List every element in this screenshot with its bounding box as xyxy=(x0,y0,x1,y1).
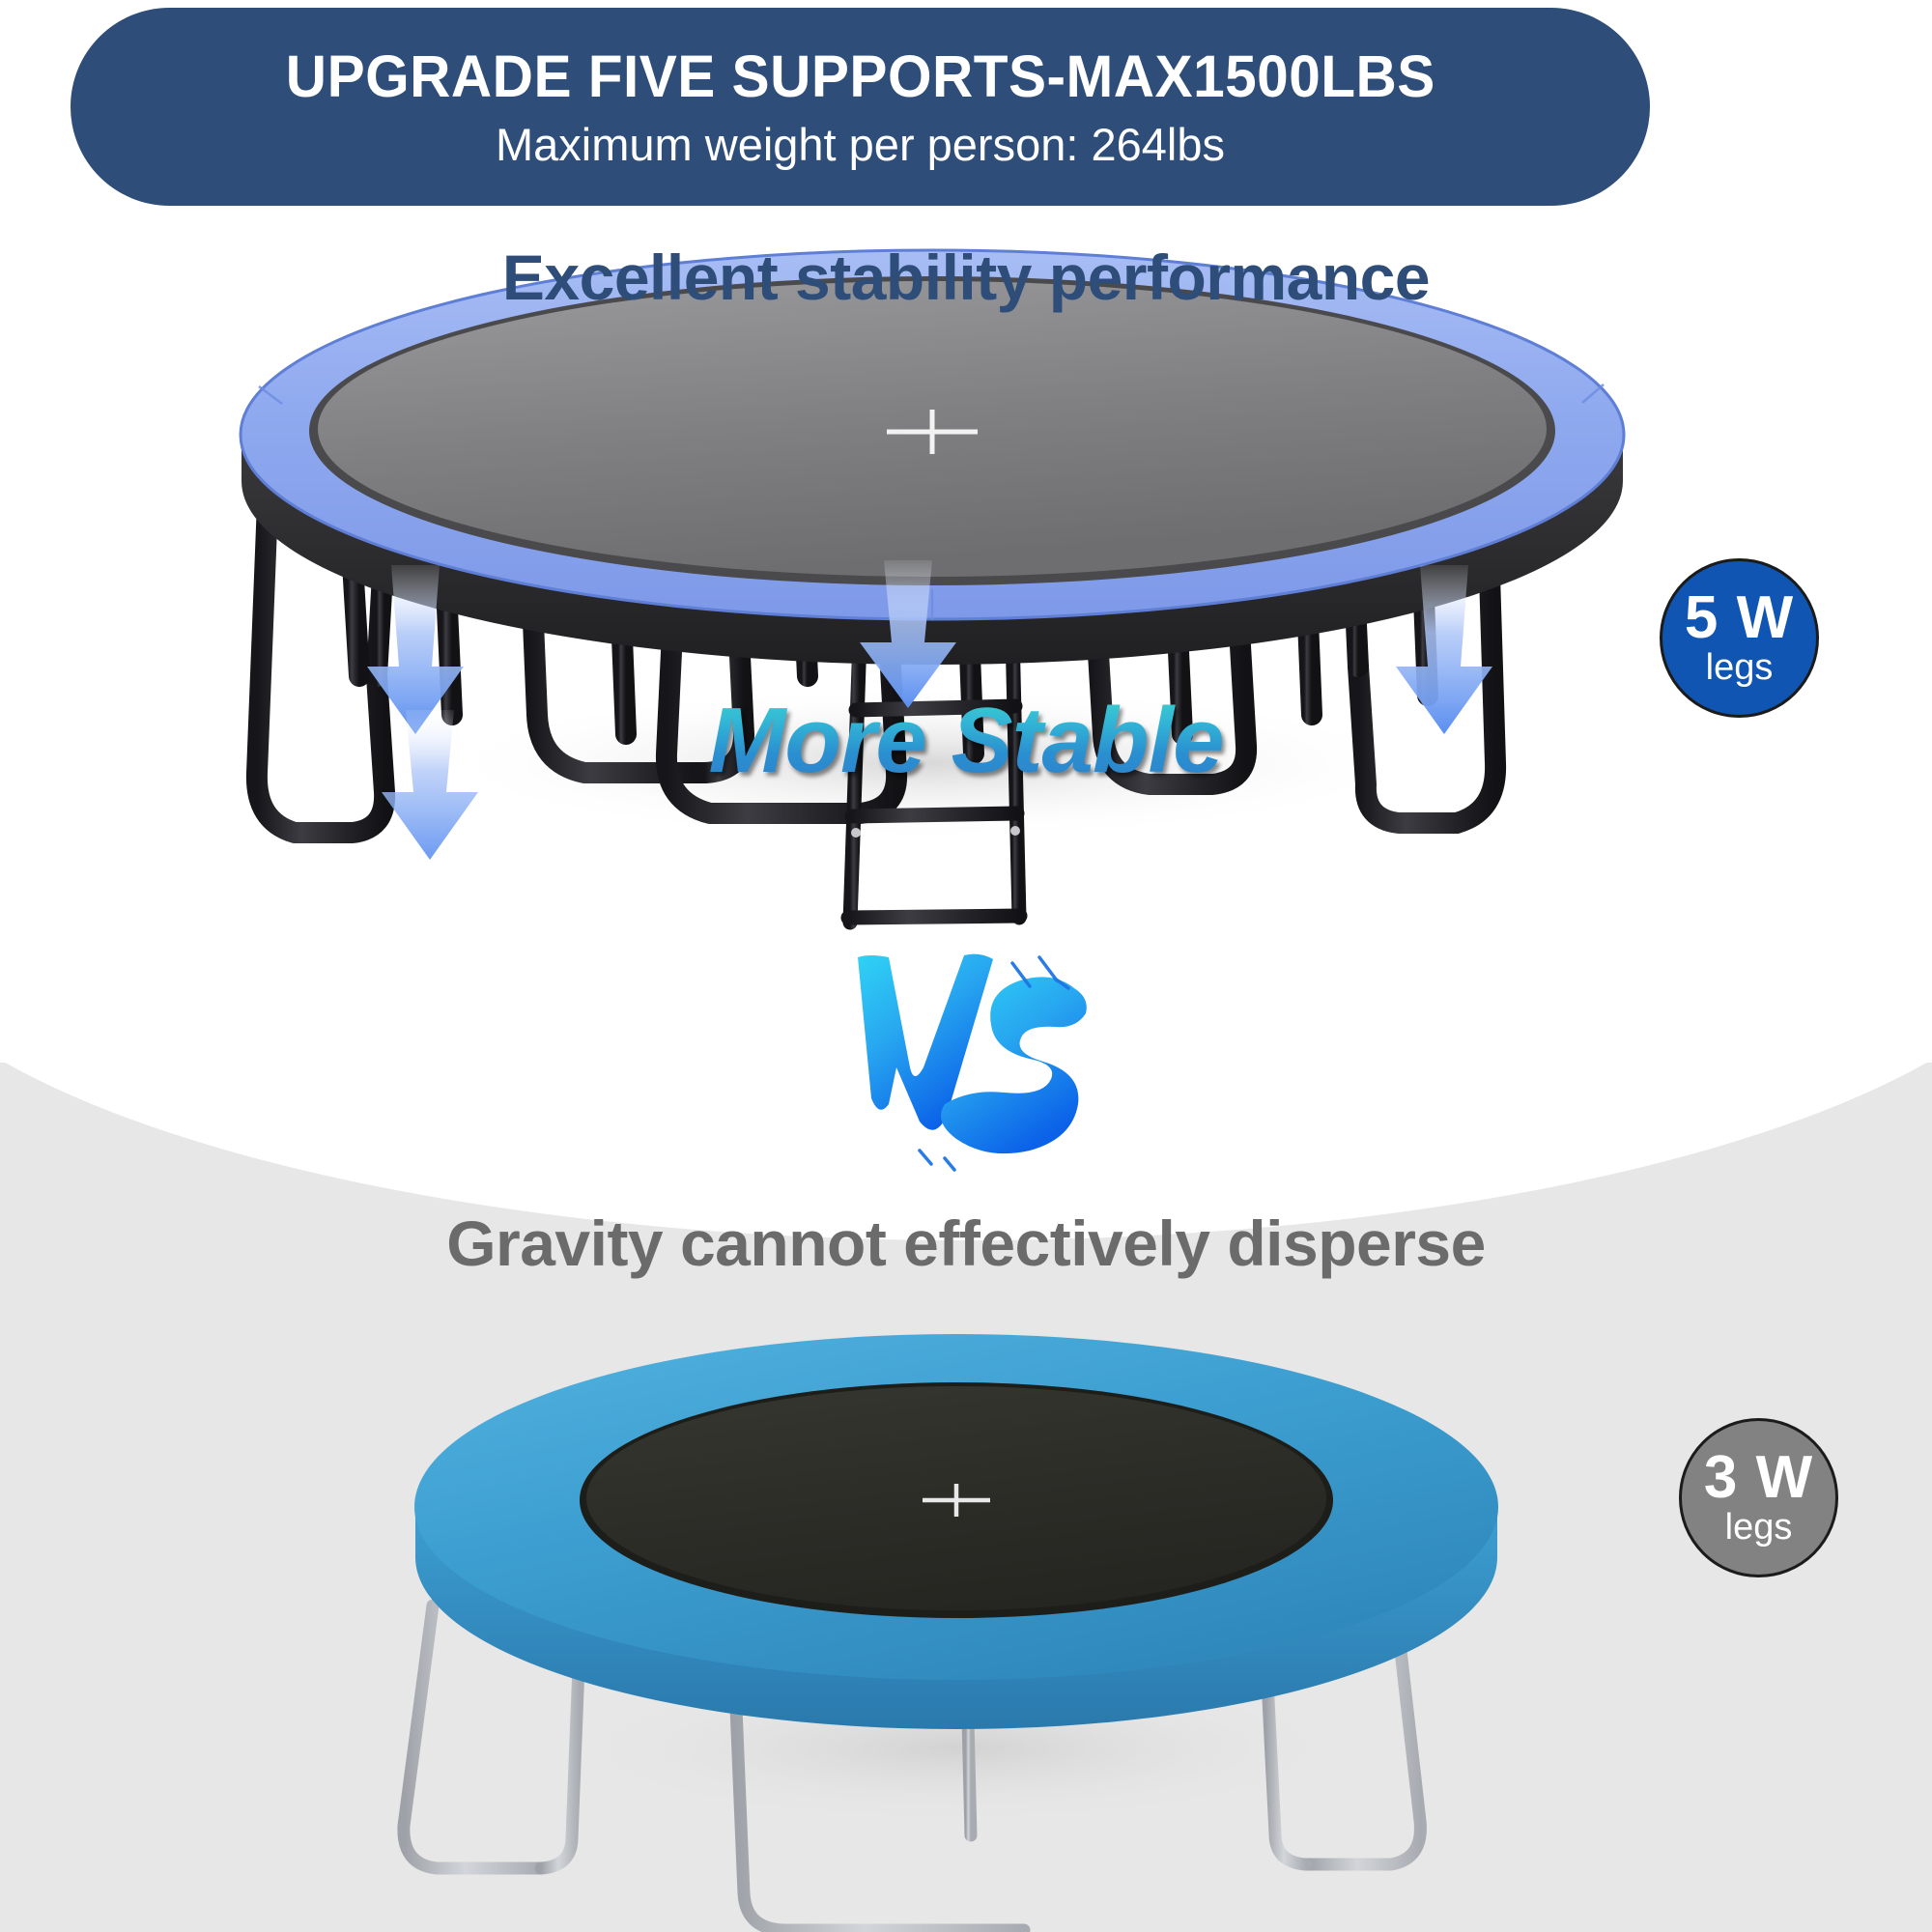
bottom-section-background xyxy=(0,1063,1932,1932)
banner-subtitle: Maximum weight per person: 264lbs xyxy=(496,122,1225,167)
bottom-section-heading: Gravity cannot effectively disperse xyxy=(0,1211,1932,1275)
badge-3w-legs: 3 W legs xyxy=(1679,1418,1838,1577)
more-stable-overlay-text: More Stable xyxy=(555,688,1377,794)
top-section-heading: Excellent stability performance xyxy=(0,245,1932,309)
header-banner: UPGRADE FIVE SUPPORTS-MAX1500LBS Maximum… xyxy=(71,8,1650,206)
badge-3w-value: 3 W xyxy=(1704,1450,1813,1507)
banner-title: UPGRADE FIVE SUPPORTS-MAX1500LBS xyxy=(285,47,1435,106)
badge-3w-unit: legs xyxy=(1725,1509,1793,1546)
vs-divider-graphic xyxy=(850,952,1092,1174)
badge-5w-value: 5 W xyxy=(1685,590,1794,647)
infographic-root: More Stable xyxy=(0,0,1932,1932)
badge-5w-legs: 5 W legs xyxy=(1660,558,1819,718)
badge-5w-unit: legs xyxy=(1706,649,1774,686)
